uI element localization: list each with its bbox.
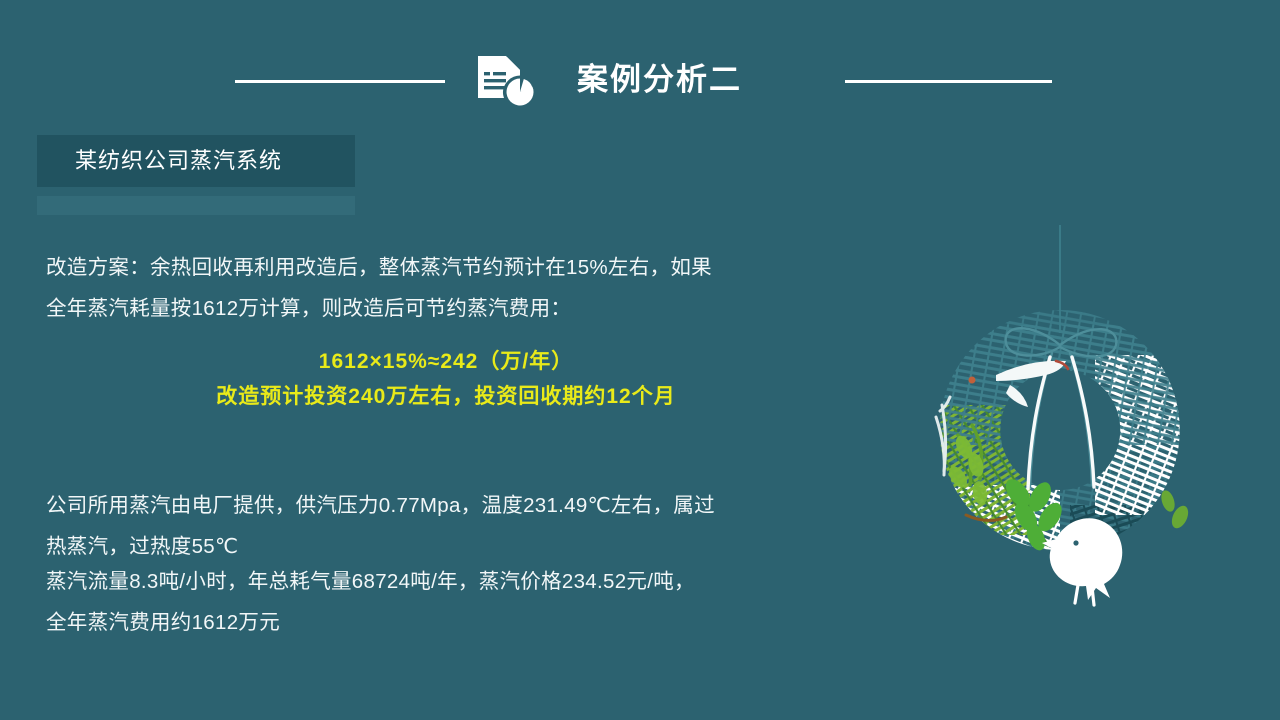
header-rule-left xyxy=(235,80,445,83)
page-title: 案例分析二 xyxy=(577,55,817,105)
calculation-block: 1612×15%≈242（万/年） 改造预计投资240万左右，投资回收期约12个… xyxy=(46,345,846,415)
section-heading-underbar xyxy=(37,196,355,215)
document-piechart-icon xyxy=(474,54,536,108)
section-heading-label: 某纺织公司蒸汽系统 xyxy=(75,135,282,187)
wreath-nest-illustration xyxy=(880,225,1240,635)
calculation-payback: 改造预计投资240万左右，投资回收期约12个月 xyxy=(46,379,846,415)
steam-usage-paragraph: 蒸汽流量8.3吨/小时，年总耗气量68724吨/年，蒸汽价格234.52元/吨，… xyxy=(46,561,876,643)
steam-supply-paragraph: 公司所用蒸汽由电厂提供，供汽压力0.77Mpa，温度231.49℃左右，属过 热… xyxy=(46,485,876,567)
slide-canvas: 案例分析二 某纺织公司蒸汽系统 改造方案：余热回收再利用改造后，整体蒸汽节约预计… xyxy=(0,0,1280,720)
section-heading-box: 某纺织公司蒸汽系统 xyxy=(37,135,355,187)
header-rule-right xyxy=(845,80,1052,83)
white-bird-icon xyxy=(1042,518,1122,605)
plan-paragraph: 改造方案：余热回收再利用改造后，整体蒸汽节约预计在15%左右，如果 全年蒸汽耗量… xyxy=(46,247,876,329)
slide-header: 案例分析二 xyxy=(0,0,1280,140)
calculation-formula: 1612×15%≈242（万/年） xyxy=(46,345,846,379)
